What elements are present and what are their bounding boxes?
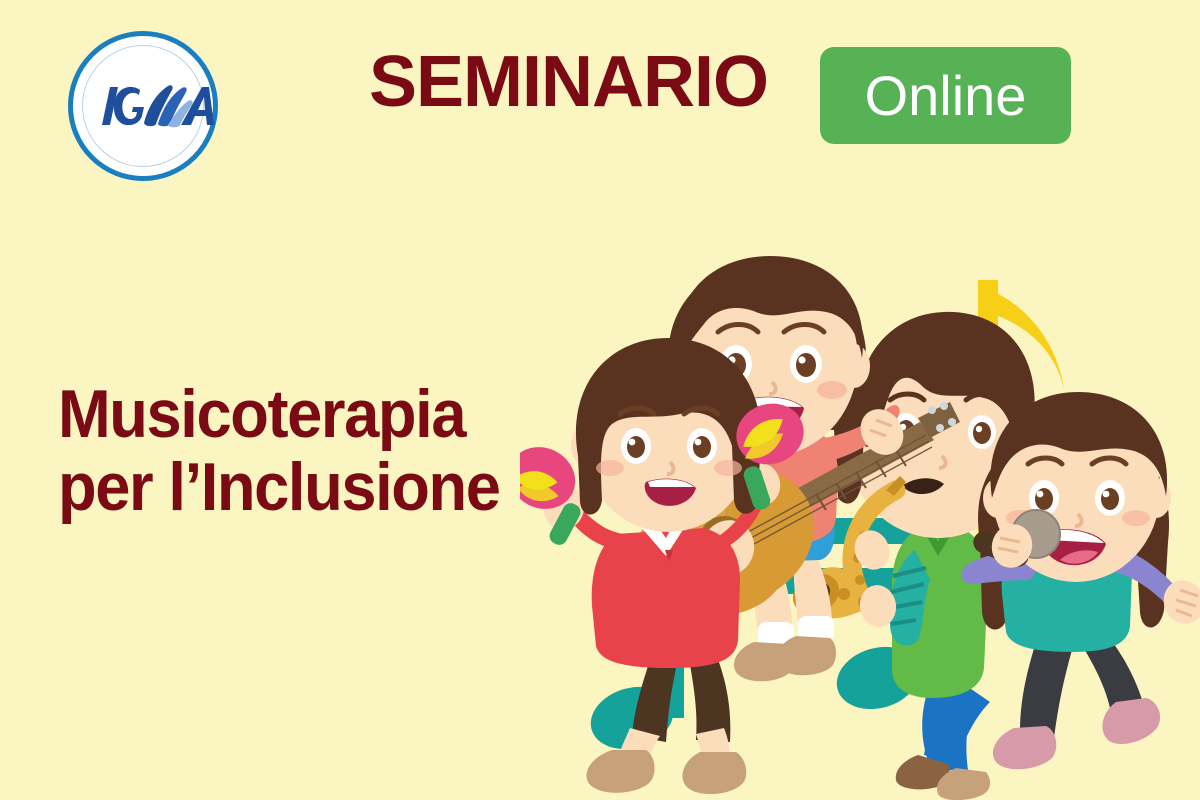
girl-with-microphone <box>962 392 1200 769</box>
online-badge: Online <box>820 47 1071 144</box>
poster-canvas: SEMINARIO Online Musicoterapia per l’Inc… <box>0 0 1200 800</box>
children-playing-music-illustration <box>520 250 1200 800</box>
online-badge-label: Online <box>865 68 1027 124</box>
page-title: SEMINARIO <box>369 46 768 118</box>
heading-line-2: per l’Inclusione <box>58 451 542 524</box>
seminar-heading: Musicoterapia per l’Inclusione <box>58 378 542 525</box>
logo-wordmark-icon <box>68 31 218 181</box>
igea-logo <box>68 31 218 181</box>
header: SEMINARIO Online <box>0 0 1200 200</box>
heading-line-1: Musicoterapia <box>58 378 542 451</box>
